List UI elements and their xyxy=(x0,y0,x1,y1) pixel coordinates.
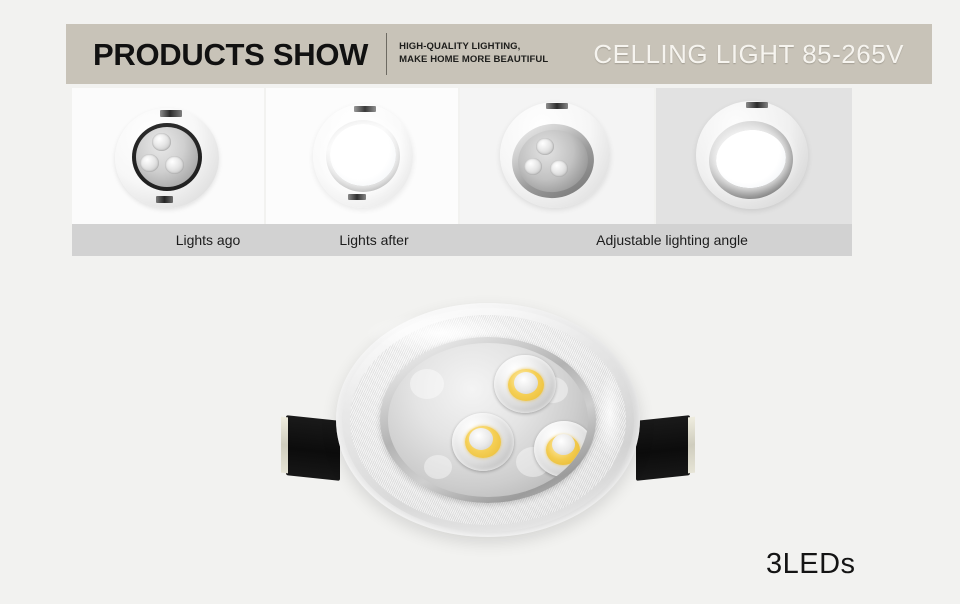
led-lens-core xyxy=(552,434,575,455)
gallery-panel-adjustable-angle-on[interactable] xyxy=(656,88,852,224)
gallery-panel-lights-after[interactable] xyxy=(266,88,458,224)
subtitle-line-2: MAKE HOME MORE BEAUTIFUL xyxy=(399,54,548,67)
spring-clip-icon xyxy=(348,194,366,200)
caption-lights-after: Lights after xyxy=(296,224,452,256)
spring-clip-icon xyxy=(160,110,182,117)
caption-adjustable-lighting-angle: Adjustable lighting angle xyxy=(550,224,794,256)
spring-clip-icon xyxy=(156,196,173,203)
spring-clip-edge xyxy=(688,417,695,474)
gallery-panel-adjustable-angle-off[interactable] xyxy=(460,88,654,224)
gallery-caption-strip: Lights ago Lights after Adjustable light… xyxy=(72,224,852,256)
reflector-facet xyxy=(410,369,444,399)
led-emitter-icon xyxy=(165,156,184,174)
spring-clip-body xyxy=(636,415,690,481)
main-product-image xyxy=(278,300,698,540)
page-title: PRODUCTS SHOW xyxy=(93,39,368,70)
led-emitter-icon xyxy=(152,133,171,151)
gallery-panel-lights-ago[interactable] xyxy=(72,88,264,224)
spring-clip-edge xyxy=(281,417,288,474)
led-count-label: 3LEDs xyxy=(766,548,856,581)
spring-clip-right xyxy=(636,415,690,481)
light-glow-icon xyxy=(330,124,396,186)
reflector-facet xyxy=(424,455,452,479)
spring-clip-icon xyxy=(354,106,376,112)
led-emitter-bottom-right xyxy=(534,421,588,477)
header-divider xyxy=(386,33,387,75)
led-lens-core xyxy=(514,372,538,394)
led-emitter-bottom-left xyxy=(452,413,514,471)
led-emitter-icon xyxy=(140,154,159,172)
product-gallery xyxy=(72,88,852,224)
downlight-fixture xyxy=(336,303,640,537)
header-subtitle: HIGH-QUALITY LIGHTING, MAKE HOME MORE BE… xyxy=(399,41,548,67)
subtitle-line-1: HIGH-QUALITY LIGHTING, xyxy=(399,41,548,54)
header-band: PRODUCTS SHOW HIGH-QUALITY LIGHTING, MAK… xyxy=(66,24,932,84)
led-lens-core xyxy=(469,428,493,450)
led-emitter-icon xyxy=(550,160,568,177)
spring-clip-icon xyxy=(546,103,568,109)
product-name-voltage: CELLING LIGHT 85-265V xyxy=(593,39,904,70)
spring-clip-icon xyxy=(746,102,768,108)
led-emitter-top xyxy=(494,355,556,413)
spring-clip-body xyxy=(286,415,340,481)
led-emitter-icon xyxy=(536,138,554,155)
spring-clip-left xyxy=(286,415,340,481)
reflector-cup xyxy=(388,343,588,497)
caption-lights-ago: Lights ago xyxy=(130,224,286,256)
fixture-side-highlight xyxy=(598,369,622,459)
led-emitter-icon xyxy=(524,158,542,175)
